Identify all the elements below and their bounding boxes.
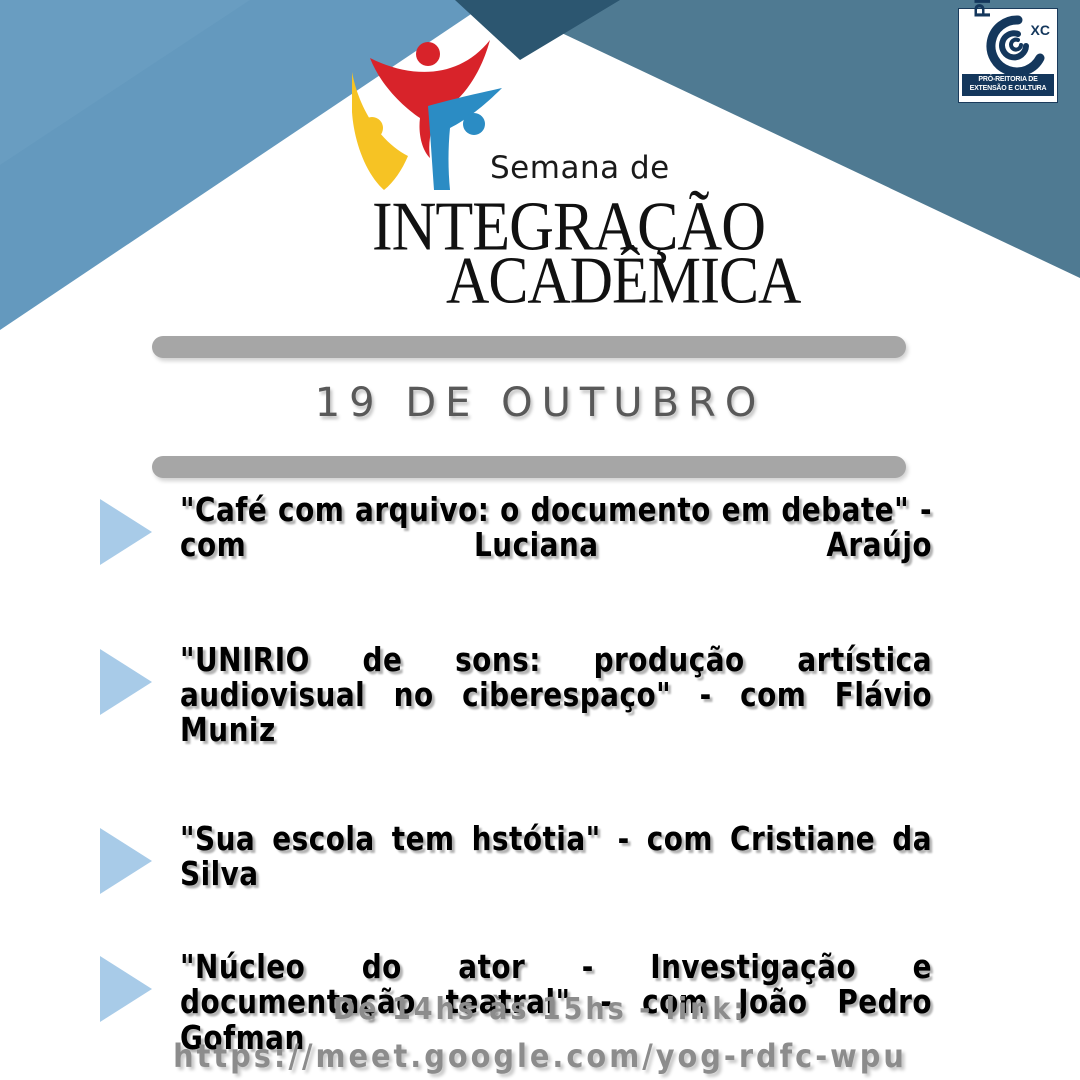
- red-person-head: [416, 42, 440, 66]
- session-item: "Sua escola tem hstótia" - com Cristiane…: [0, 821, 1080, 927]
- yellow-person-head: [361, 117, 383, 139]
- proexc-caption-line2: EXTENSÃO E CULTURA: [963, 85, 1053, 94]
- blue-person-head: [463, 113, 485, 135]
- event-poster: Semana de INTEGRAÇÃO ACADÊMICA PRO XC PR…: [0, 0, 1080, 1080]
- proexc-pro-text: PRO: [970, 0, 996, 18]
- date-bar-top: [152, 336, 906, 358]
- logo-semana-de-text: Semana de: [490, 150, 670, 186]
- footer-meeting-link[interactable]: https://meet.google.com/yog-rdfc-wpu: [0, 1037, 1080, 1075]
- proexc-caption: PRÓ-REITORIA DE EXTENSÃO E CULTURA: [962, 74, 1054, 96]
- session-item: "Café com arquivo: o documento em debate…: [0, 492, 1080, 598]
- proexc-logo-badge: PRO XC PRÓ-REITORIA DE EXTENSÃO E CULTUR…: [958, 8, 1058, 103]
- date-title: 19 DE OUTUBRO: [0, 380, 1080, 426]
- date-bar-bottom: [152, 456, 906, 478]
- session-title: "Café com arquivo: o documento em debate…: [180, 492, 932, 598]
- play-arrow-icon: [100, 649, 152, 715]
- play-arrow-icon: [100, 499, 152, 565]
- session-title: "Sua escola tem hstótia" - com Cristiane…: [180, 821, 932, 927]
- session-item: "UNIRIO de sons: produção artística audi…: [0, 642, 1080, 783]
- event-logo: Semana de INTEGRAÇÃO ACADÊMICA: [330, 10, 750, 315]
- proexc-mark: PRO XC: [962, 12, 1054, 74]
- logo-academica-text: ACADÊMICA: [446, 242, 800, 319]
- footer: De 14hs às 15hs - link: https://meet.goo…: [0, 992, 1080, 1075]
- proexc-caption-line1: PRÓ-REITORIA DE: [963, 76, 1053, 85]
- footer-time-text: De 14hs às 15hs - link:: [0, 992, 1080, 1027]
- proexc-xc-text: XC: [1031, 22, 1050, 38]
- play-arrow-icon: [100, 828, 152, 894]
- session-title: "UNIRIO de sons: produção artística audi…: [180, 642, 932, 783]
